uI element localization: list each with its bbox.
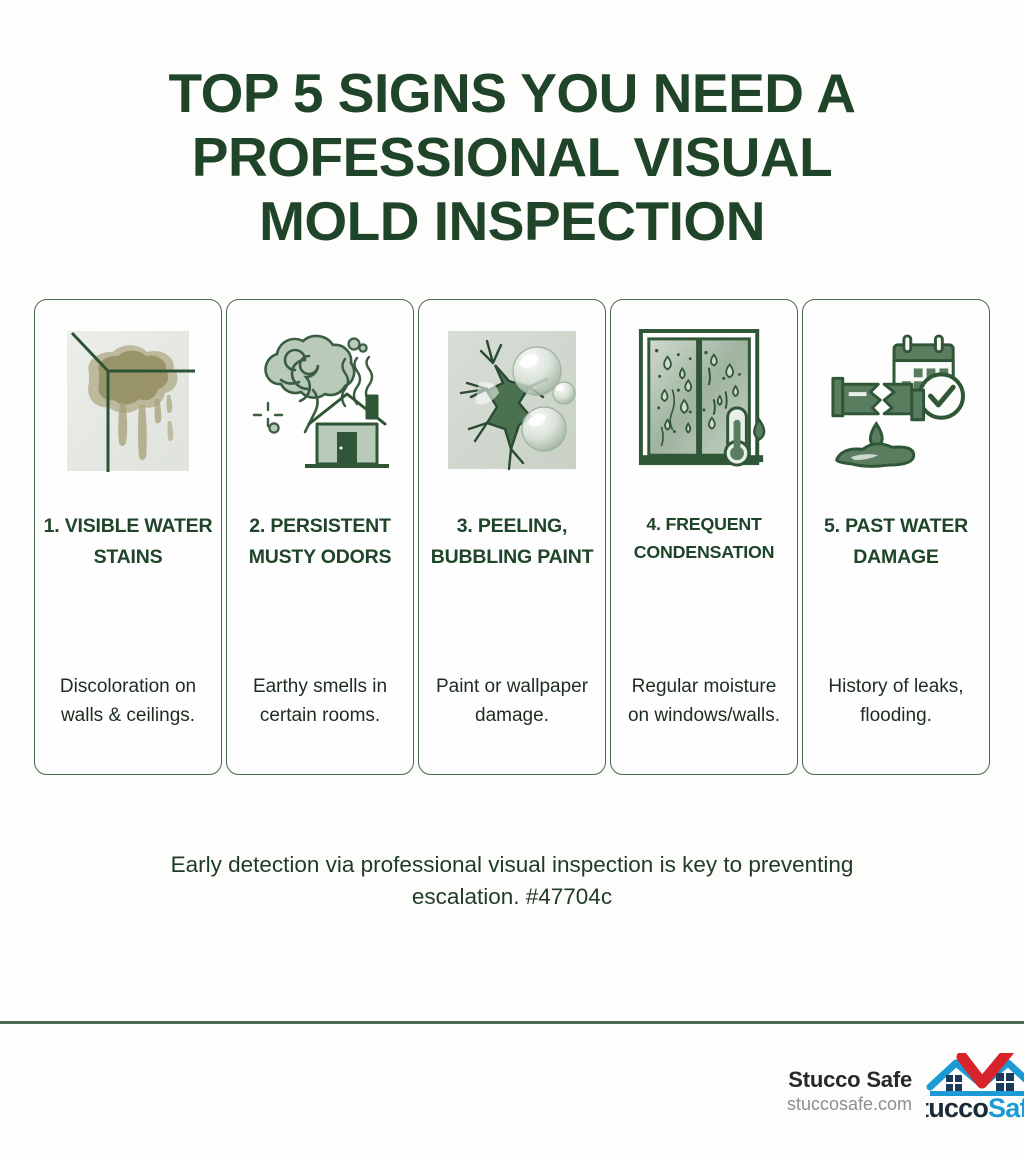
sign-card-3-peeling-bubbling-paint[interactable]: 3. PEELING, BUBBLING PAINT Paint or wall… [418, 299, 606, 775]
title-block: TOP 5 SIGNS YOU NEED A PROFESSIONAL VISU… [0, 0, 1024, 253]
water-stain-corner-icon [59, 322, 197, 477]
broken-pipe-calendar-icon [827, 322, 965, 477]
sign-card-5-description: History of leaks, flooding. [811, 673, 981, 730]
sign-card-4-title: 4. FREQUENT CONDENSATION [619, 511, 789, 566]
logo-wordmark: tuccoSaf [926, 1093, 1024, 1124]
sign-card-5-past-water-damage[interactable]: 5. PAST WATER DAMAGE History of leaks, f… [802, 299, 990, 775]
sign-card-2-description: Earthy smells in certain rooms. [235, 673, 405, 730]
sign-card-1-title: 1. VISIBLE WATER STAINS [43, 511, 213, 571]
infographic-root: TOP 5 SIGNS YOU NEED A PROFESSIONAL VISU… [0, 0, 1024, 1154]
logo-word-dark: tucco [926, 1093, 988, 1123]
brand-url[interactable]: stuccosafe.com [787, 1094, 912, 1115]
stucco-safe-house-check-logo[interactable]: tuccoSaf [926, 1053, 1024, 1125]
brand-text-group: Stucco Safe stuccosafe.com [787, 1067, 912, 1115]
title-line-1: TOP 5 SIGNS YOU NEED A [60, 62, 964, 126]
cracked-paint-bubbles-icon [443, 322, 581, 477]
sign-card-1-visible-water-stains[interactable]: 1. VISIBLE WATER STAINS Discoloration on… [34, 299, 222, 775]
footnote-text: Early detection via professional visual … [0, 849, 1024, 913]
page-title: TOP 5 SIGNS YOU NEED A PROFESSIONAL VISU… [60, 62, 964, 253]
musty-odor-house-icon [251, 322, 389, 477]
sign-card-3-description: Paint or wallpaper damage. [427, 673, 597, 730]
sign-card-4-frequent-condensation[interactable]: 4. FREQUENT CONDENSATION Regular moistur… [610, 299, 798, 775]
condensation-window-thermometer-icon [635, 322, 773, 477]
sign-card-5-title: 5. PAST WATER DAMAGE [811, 511, 981, 571]
footer-brand-bar: Stucco Safe stuccosafe.com [0, 1024, 1024, 1154]
logo-word-blue: Saf [988, 1093, 1024, 1123]
sign-card-3-title: 3. PEELING, BUBBLING PAINT [427, 511, 597, 571]
brand-name: Stucco Safe [787, 1067, 912, 1093]
title-line-3: MOLD INSPECTION [60, 190, 964, 254]
sign-card-2-title: 2. PERSISTENT MUSTY ODORS [235, 511, 405, 571]
sign-card-4-description: Regular moisture on windows/walls. [619, 673, 789, 730]
sign-card-1-description: Discoloration on walls & ceilings. [43, 673, 213, 730]
sign-card-2-persistent-musty-odors[interactable]: 2. PERSISTENT MUSTY ODORS Earthy smells … [226, 299, 414, 775]
signs-card-list: 1. VISIBLE WATER STAINS Discoloration on… [0, 299, 1024, 775]
title-line-2: PROFESSIONAL VISUAL [60, 126, 964, 190]
